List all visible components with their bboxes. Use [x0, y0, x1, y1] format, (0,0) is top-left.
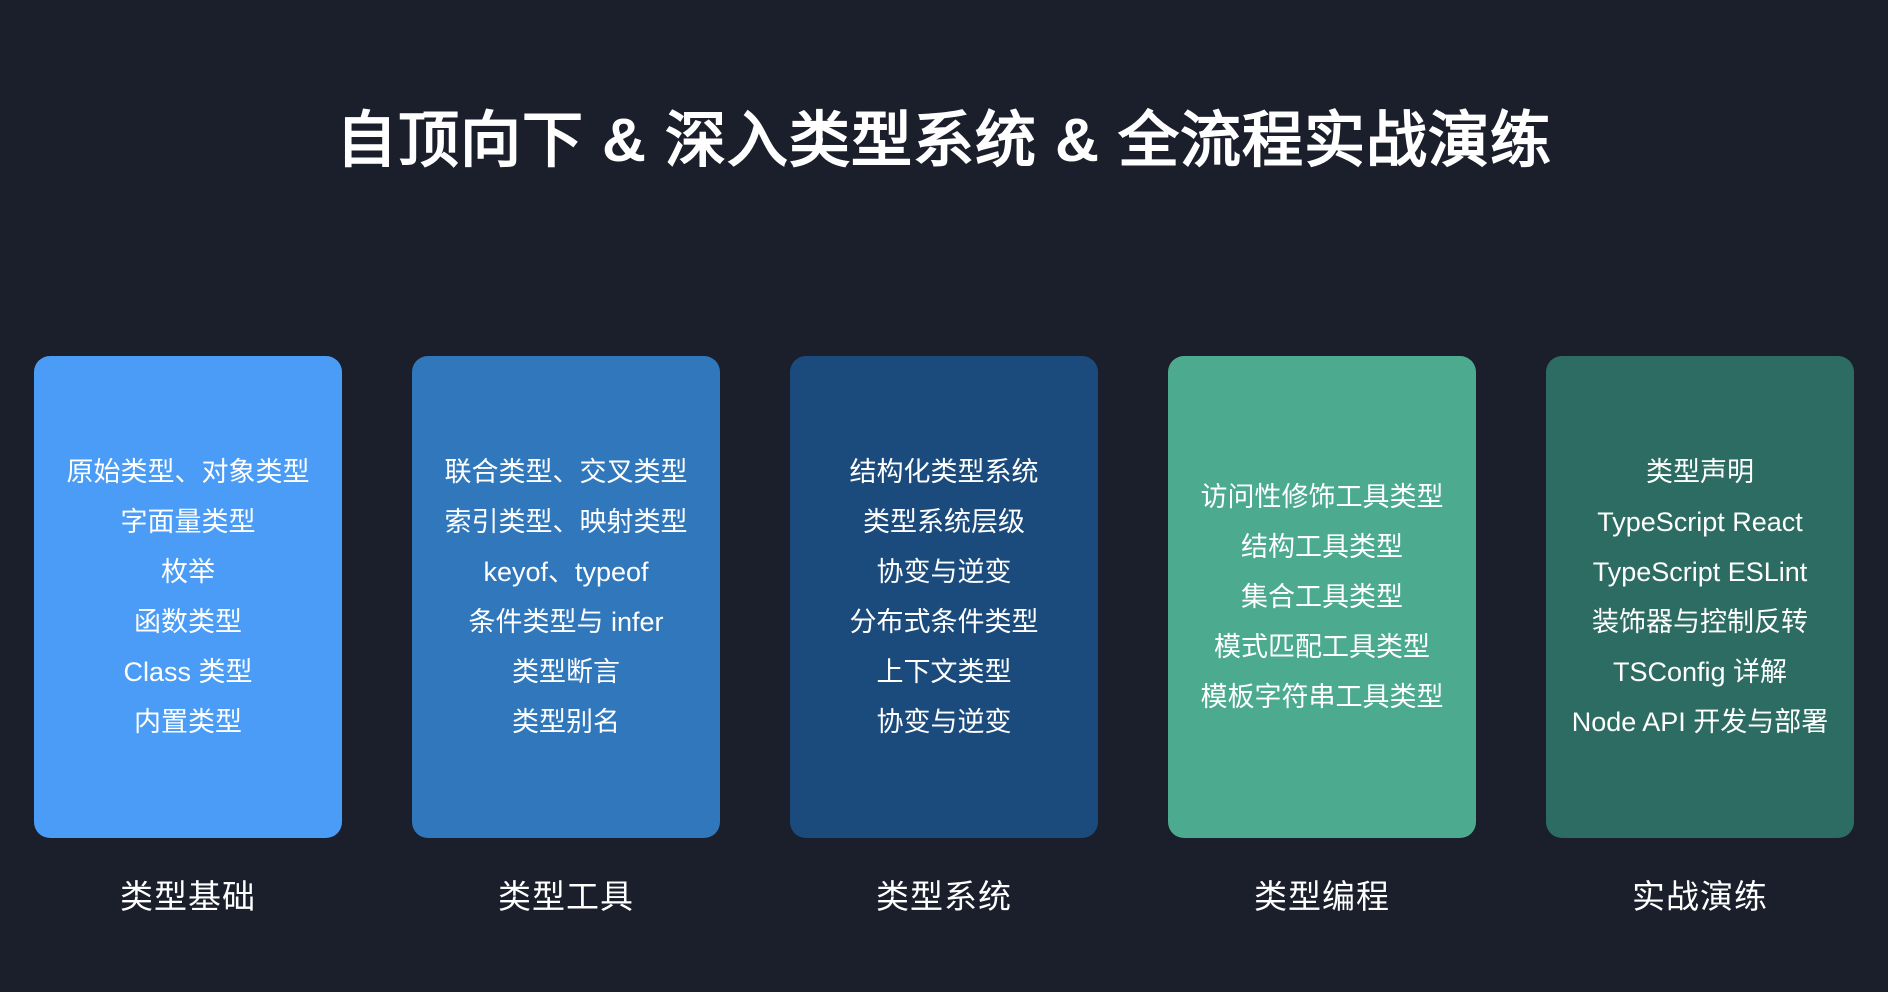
topic-card[interactable]: 原始类型、对象类型字面量类型枚举函数类型Class 类型内置类型	[34, 356, 342, 838]
topic-item: 装饰器与控制反转	[1592, 597, 1808, 647]
topic-item: 内置类型	[134, 697, 242, 747]
topic-card[interactable]: 联合类型、交叉类型索引类型、映射类型keyof、typeof条件类型与 infe…	[412, 356, 720, 838]
topic-item: TypeScript ESLint	[1593, 547, 1808, 597]
column-label: 类型基础	[120, 870, 256, 918]
roadmap-column: 结构化类型系统类型系统层级协变与逆变分布式条件类型上下文类型协变与逆变类型系统	[790, 356, 1098, 918]
topic-item: TypeScript React	[1597, 497, 1803, 547]
slide-root: 自顶向下 & 深入类型系统 & 全流程实战演练 原始类型、对象类型字面量类型枚举…	[0, 0, 1888, 992]
topic-item: 函数类型	[134, 597, 242, 647]
page-title: 自顶向下 & 深入类型系统 & 全流程实战演练	[0, 104, 1888, 177]
roadmap-column: 原始类型、对象类型字面量类型枚举函数类型Class 类型内置类型类型基础	[34, 356, 342, 918]
topic-item: 集合工具类型	[1241, 572, 1403, 622]
topic-item: 访问性修饰工具类型	[1201, 472, 1444, 522]
topic-card[interactable]: 访问性修饰工具类型结构工具类型集合工具类型模式匹配工具类型模板字符串工具类型	[1168, 356, 1476, 838]
topic-item: 上下文类型	[877, 647, 1012, 697]
topic-item: 联合类型、交叉类型	[445, 447, 688, 497]
topic-card[interactable]: 类型声明TypeScript ReactTypeScript ESLint装饰器…	[1546, 356, 1854, 838]
roadmap-columns: 原始类型、对象类型字面量类型枚举函数类型Class 类型内置类型类型基础联合类型…	[0, 356, 1888, 918]
roadmap-column: 类型声明TypeScript ReactTypeScript ESLint装饰器…	[1546, 356, 1854, 918]
topic-item: 分布式条件类型	[850, 597, 1039, 647]
topic-item: 结构化类型系统	[850, 447, 1039, 497]
topic-item: Class 类型	[123, 647, 252, 697]
topic-item: 类型断言	[512, 647, 620, 697]
topic-item: 模式匹配工具类型	[1214, 622, 1430, 672]
column-label: 类型系统	[876, 870, 1012, 918]
topic-item: 原始类型、对象类型	[67, 447, 310, 497]
roadmap-column: 联合类型、交叉类型索引类型、映射类型keyof、typeof条件类型与 infe…	[412, 356, 720, 918]
topic-card[interactable]: 结构化类型系统类型系统层级协变与逆变分布式条件类型上下文类型协变与逆变	[790, 356, 1098, 838]
topic-item: Node API 开发与部署	[1572, 697, 1829, 747]
topic-item: keyof、typeof	[483, 547, 648, 597]
topic-item: TSConfig 详解	[1613, 647, 1787, 697]
topic-item: 类型声明	[1646, 447, 1754, 497]
topic-item: 类型系统层级	[863, 497, 1025, 547]
topic-item: 协变与逆变	[877, 547, 1012, 597]
topic-item: 结构工具类型	[1241, 522, 1403, 572]
column-label: 实战演练	[1632, 870, 1768, 918]
topic-item: 枚举	[161, 547, 215, 597]
topic-item: 字面量类型	[121, 497, 256, 547]
topic-item: 条件类型与 infer	[468, 597, 663, 647]
topic-item: 类型别名	[512, 697, 620, 747]
column-label: 类型工具	[498, 870, 634, 918]
roadmap-column: 访问性修饰工具类型结构工具类型集合工具类型模式匹配工具类型模板字符串工具类型类型…	[1168, 356, 1476, 918]
topic-item: 模板字符串工具类型	[1201, 672, 1444, 722]
topic-item: 协变与逆变	[877, 697, 1012, 747]
column-label: 类型编程	[1254, 870, 1390, 918]
topic-item: 索引类型、映射类型	[445, 497, 688, 547]
